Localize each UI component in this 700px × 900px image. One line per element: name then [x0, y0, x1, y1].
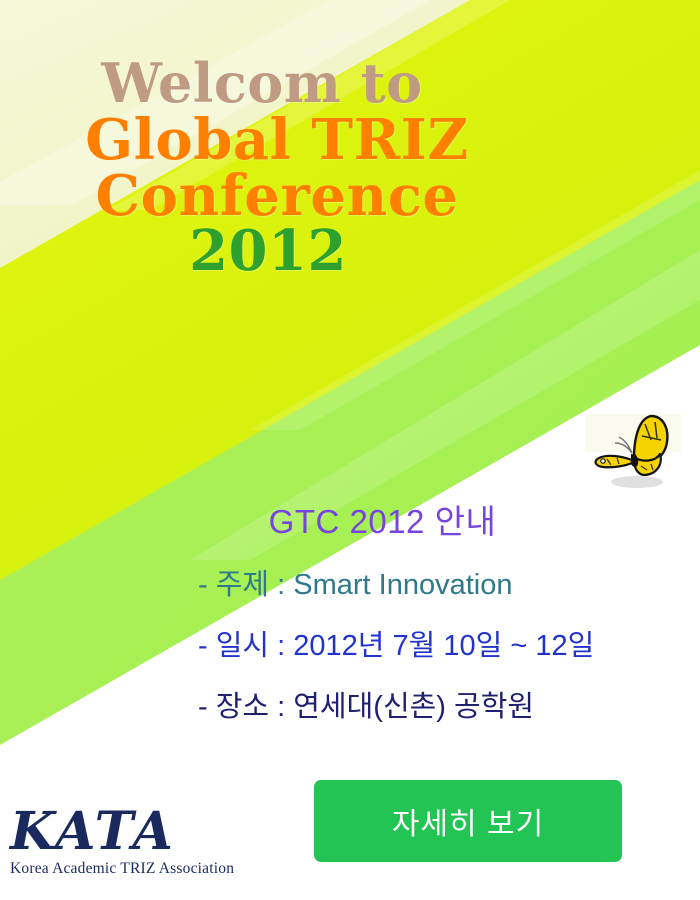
butterfly-graphic [585, 406, 685, 496]
headline-line-year: 2012 [0, 225, 520, 279]
headline-line-global-triz: Global TRIZ [0, 114, 520, 168]
kata-logo: KATA Korea Academic TRIZ Association [6, 806, 276, 878]
headline-block: Welcom to Global TRIZ Conference 2012 [0, 58, 520, 279]
info-line-topic: - 주제 : Smart Innovation [190, 561, 690, 603]
info-line-venue: - 장소 : 연세대(신촌) 공학원 [190, 683, 690, 725]
butterfly-icon [585, 406, 685, 496]
kata-logo-tagline: Korea Academic TRIZ Association [6, 860, 276, 878]
view-details-button[interactable]: 자세히 보기 [314, 780, 622, 862]
kata-logo-mark: KATA [6, 806, 276, 858]
headline-line-welcome: Welcom to [0, 58, 520, 110]
info-title: GTC 2012 안내 [190, 495, 690, 543]
info-block: GTC 2012 안내 - 주제 : Smart Innovation - 일시… [190, 495, 690, 744]
info-line-date: - 일시 : 2012년 7월 10일 ~ 12일 [190, 622, 690, 664]
poster-canvas: Welcom to Global TRIZ Conference 2012 G [0, 0, 700, 900]
headline-line-conference: Conference [0, 170, 520, 224]
